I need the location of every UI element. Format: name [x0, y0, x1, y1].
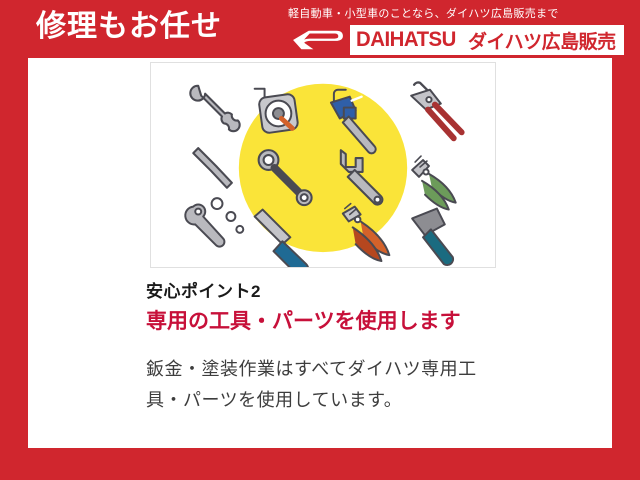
header-band: 修理もお任せ 軽自動車・小型車のことなら、ダイハツ広島販売まで DAIHATSU…	[0, 0, 640, 58]
promo-slide: 修理もお任せ 軽自動車・小型車のことなら、ダイハツ広島販売まで DAIHATSU…	[0, 0, 640, 480]
point-label: 安心ポイント2	[146, 280, 498, 304]
text-block: 安心ポイント2 専用の工具・パーツを使用します 鈑金・塗装作業はすべてダイハツ専…	[146, 280, 498, 416]
illustration-panel	[150, 62, 496, 268]
socket-set-icon	[212, 198, 244, 233]
brand-lockup: 軽自動車・小型車のことなら、ダイハツ広島販売まで DAIHATSU ダイハツ広島…	[286, 5, 624, 55]
locking-pliers-icon	[411, 82, 462, 138]
daihatsu-d-emblem-icon	[286, 25, 350, 55]
brand-tagline: 軽自動車・小型車のことなら、ダイハツ広島販売まで	[288, 5, 559, 23]
point-headline: 専用の工具・パーツを使用します	[146, 310, 498, 334]
brand-wordmarks: DAIHATSU ダイハツ広島販売	[350, 25, 624, 55]
hammer-icon	[412, 209, 453, 265]
point-body-text: 鈑金・塗装作業はすべてダイハツ専用工具・パーツを使用しています。	[146, 354, 498, 416]
slip-joint-pliers-icon	[412, 156, 456, 209]
page-title: 修理もお任せ	[36, 8, 222, 46]
socket-wrench-icon	[185, 205, 224, 247]
allen-key-icon	[193, 148, 232, 188]
content-card: 安心ポイント2 専用の工具・パーツを使用します 鈑金・塗装作業はすべてダイハツ専…	[28, 58, 612, 448]
brand-wordmark-latin: DAIHATSU	[356, 28, 456, 52]
combination-wrench-icon	[190, 86, 239, 131]
brand-logo-row: DAIHATSU ダイハツ広島販売	[286, 25, 624, 55]
brand-wordmark-japanese: ダイハツ広島販売	[468, 27, 616, 54]
tools-illustration	[151, 63, 495, 267]
